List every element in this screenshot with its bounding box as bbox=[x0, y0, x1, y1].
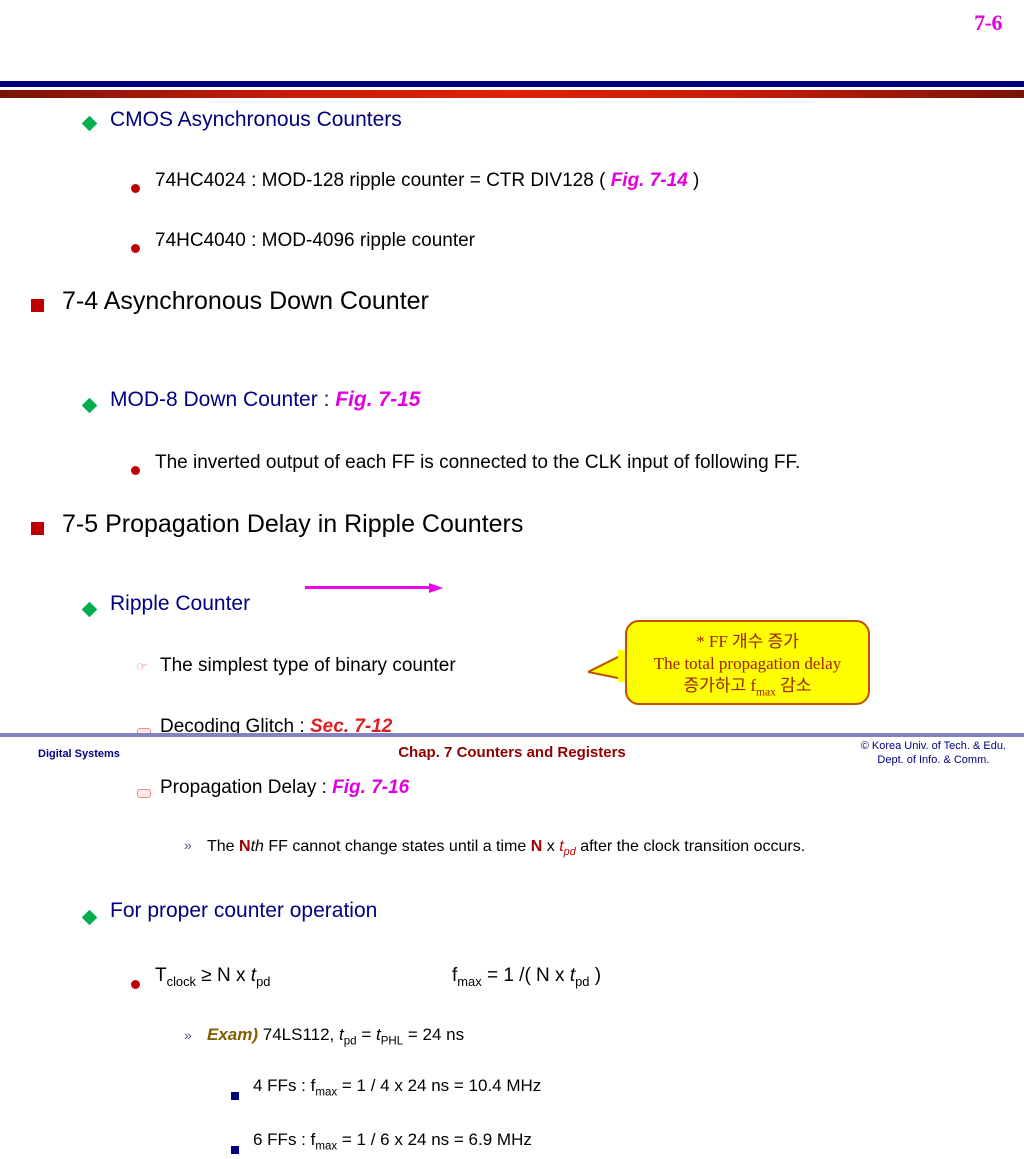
text-segment: The bbox=[207, 838, 239, 855]
page-number: 7-6 bbox=[974, 10, 1002, 36]
bullet-74hc4024: 74HC4024 : MOD-128 ripple counter = CTR … bbox=[0, 139, 1024, 167]
bullet-simplest-type: ☞ The simplest type of binary counter bbox=[0, 355, 1024, 383]
bullet-label: The Nth FF cannot change states until a … bbox=[207, 838, 805, 858]
variable-n: N bbox=[239, 838, 251, 855]
callout-box: * FF 개수 증가 The total propagation delay 증… bbox=[625, 620, 870, 705]
text-segment: after the clock transition occurs. bbox=[576, 838, 805, 855]
variable-fmax-subscript: max bbox=[756, 685, 776, 698]
text-segment: th bbox=[251, 838, 264, 855]
text-segment: ≥ N x bbox=[201, 965, 251, 986]
bullet-label: 4 FFs : fmax = 1 / 4 x 24 ns = 10.4 MHz bbox=[253, 1076, 541, 1098]
heading-7-4: 7-4 Asynchronous Down Counter bbox=[0, 195, 1024, 231]
text-segment: Propagation Delay : bbox=[160, 777, 332, 798]
callout-tail-icon bbox=[588, 650, 630, 682]
variable-tpd-subscript: pd bbox=[564, 846, 576, 858]
bullet-four-ffs: 4 FFs : fmax = 1 / 4 x 24 ns = 10.4 MHz bbox=[0, 549, 1024, 575]
text-segment: = 24 ns bbox=[403, 1025, 464, 1044]
bullet-cmos-async-counters: CMOS Asynchronous Counters bbox=[0, 108, 1024, 139]
text-segment: 4 FFs : bbox=[253, 1076, 311, 1095]
bullet-74hc4040: 74HC4040 : MOD-4096 ripple counter bbox=[0, 167, 1024, 195]
arrow-shaft bbox=[305, 586, 431, 589]
navy-square-bullet-icon bbox=[231, 1087, 239, 1105]
variable-t: T bbox=[155, 965, 167, 986]
diamond-bullet-icon bbox=[84, 116, 95, 134]
diamond-bullet-icon bbox=[84, 910, 95, 928]
bullet-label: 6 FFs : fmax = 1 / 6 x 24 ns = 6.9 MHz bbox=[253, 1130, 532, 1152]
arrow-head bbox=[429, 583, 443, 593]
variable-fmax-subscript: max bbox=[457, 974, 481, 989]
bullet-decoding-glitch: Decoding Glitch : Sec. 7-12 bbox=[0, 383, 1024, 411]
text-segment: FF cannot change states until a time bbox=[264, 838, 531, 855]
slide-body: CMOS Asynchronous Counters 74HC4024 : MO… bbox=[0, 108, 1024, 601]
guillemet-bullet-icon: » bbox=[184, 1027, 192, 1043]
dot-bullet-icon bbox=[131, 976, 140, 994]
bullet-mod8-down-counter: MOD-8 Down Counter : Fig. 7-15 bbox=[0, 231, 1024, 261]
guillemet-bullet-icon: » bbox=[184, 837, 192, 853]
callout-line-1: * FF 개수 증가 bbox=[627, 631, 868, 653]
variable-n: N bbox=[531, 838, 543, 855]
bullet-nth-ff: » The Nth FF cannot change states until … bbox=[0, 439, 1024, 465]
bullet-six-ffs: 6 FFs : fmax = 1 / 6 x 24 ns = 6.9 MHz bbox=[0, 575, 1024, 601]
text-segment: ) bbox=[589, 965, 601, 986]
formula-lhs: Tclock ≥ N x tpd bbox=[155, 965, 270, 989]
exam-label: Exam) bbox=[207, 1025, 258, 1044]
text-segment: x bbox=[542, 838, 559, 855]
header-rule-navy bbox=[0, 81, 1024, 87]
text-segment: = 1 /( N x bbox=[482, 965, 570, 986]
rect-bullet-icon bbox=[137, 785, 151, 803]
bullet-tclock-formula: Tclock ≥ N x tpd fmax = 1 /( N x tpd ) bbox=[0, 495, 1024, 523]
footer-copyright-line-2: Dept. of Info. & Comm. bbox=[861, 754, 1006, 768]
callout-line-3: 증가하고 fmax 감소 bbox=[627, 675, 868, 700]
footer-copyright: © Korea Univ. of Tech. & Edu. Dept. of I… bbox=[861, 740, 1006, 768]
bullet-label: For proper counter operation bbox=[110, 899, 377, 923]
bullet-propagation-delay: Propagation Delay : Fig. 7-16 bbox=[0, 411, 1024, 439]
variable-fmax-subscript: max bbox=[315, 1140, 337, 1152]
text-segment: = bbox=[357, 1025, 376, 1044]
bullet-label: Exam) 74LS112, tpd = tPHL = 24 ns bbox=[207, 1025, 464, 1047]
callout-line-2: The total propagation delay bbox=[627, 653, 868, 675]
bullet-label: Propagation Delay : Fig. 7-16 bbox=[160, 777, 409, 799]
variable-tpd-subscript: pd bbox=[256, 974, 270, 989]
variable-fmax-subscript: max bbox=[315, 1086, 337, 1098]
diamond-bullet-icon bbox=[84, 602, 95, 620]
text-segment: 6 FFs : bbox=[253, 1130, 311, 1149]
variable-tphl-subscript: PHL bbox=[381, 1035, 403, 1047]
variable-tpd-subscript: pd bbox=[344, 1035, 357, 1047]
figure-reference: Fig. 7-16 bbox=[332, 777, 409, 798]
variable-t-subscript: clock bbox=[167, 974, 196, 989]
formula-rhs: fmax = 1 /( N x tpd ) bbox=[452, 965, 601, 989]
text-segment: 감소 bbox=[776, 676, 812, 695]
bullet-ripple-counter: Ripple Counter bbox=[0, 325, 1024, 355]
footer-rule bbox=[0, 733, 1024, 737]
footer-copyright-line-1: © Korea Univ. of Tech. & Edu. bbox=[861, 740, 1006, 754]
navy-square-bullet-icon bbox=[231, 1141, 239, 1159]
header-rule-red bbox=[0, 90, 1024, 98]
curl-bullet-icon: ☞ bbox=[135, 658, 147, 676]
implication-arrow-icon bbox=[305, 583, 445, 593]
text-segment: = 1 / 6 x 24 ns = 6.9 MHz bbox=[337, 1130, 532, 1149]
bullet-label: The simplest type of binary counter bbox=[160, 655, 456, 677]
text-segment: 증가하고 f bbox=[684, 676, 756, 695]
heading-7-5: 7-5 Propagation Delay in Ripple Counters bbox=[0, 289, 1024, 325]
text-segment: = 1 / 4 x 24 ns = 10.4 MHz bbox=[337, 1076, 541, 1095]
bullet-for-proper-operation: For proper counter operation bbox=[0, 465, 1024, 495]
bullet-label: CMOS Asynchronous Counters bbox=[110, 108, 402, 132]
text-segment: 74LS112, bbox=[258, 1025, 339, 1044]
bullet-inverted-output: The inverted output of each FF is connec… bbox=[0, 261, 1024, 289]
variable-tpd-subscript: pd bbox=[575, 974, 589, 989]
bullet-exam-line: » Exam) 74LS112, tpd = tPHL = 24 ns bbox=[0, 523, 1024, 549]
